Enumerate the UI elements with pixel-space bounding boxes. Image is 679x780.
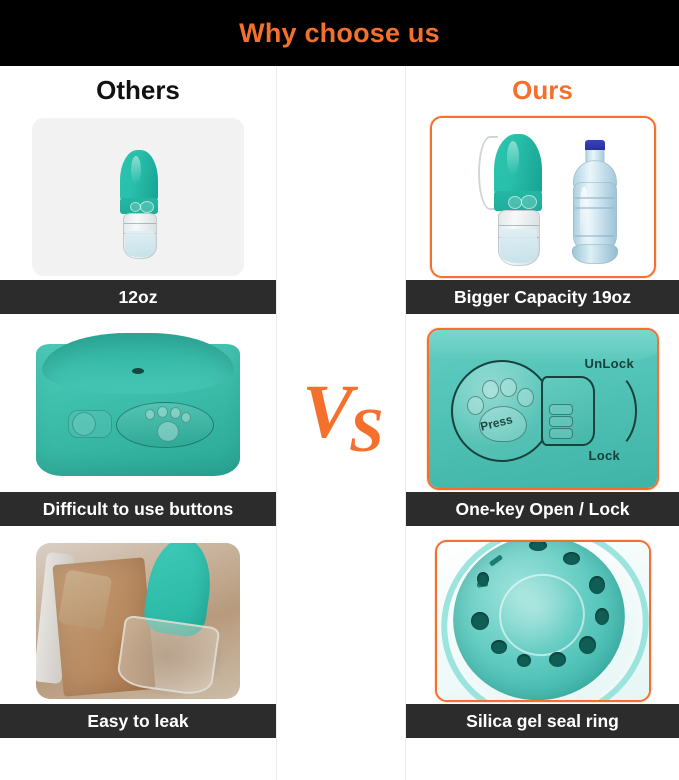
plastic-bottle-body <box>573 182 617 252</box>
cell-ours-capacity: Bigger Capacity 19oz <box>406 114 679 314</box>
lock-label: Lock <box>589 448 621 463</box>
column-divider-left <box>276 66 277 780</box>
bottle-neck <box>120 198 158 214</box>
seal-hole <box>471 612 489 630</box>
caption-ours-capacity: Bigger Capacity 19oz <box>406 280 679 314</box>
ours-bottle-body <box>498 210 540 266</box>
frame-photo <box>36 543 240 699</box>
caption-others-buttons: Difficult to use buttons <box>0 492 276 526</box>
column-heading-others: Others <box>0 66 276 114</box>
page-title: Why choose us <box>239 18 440 49</box>
lid-vent-hole-icon <box>132 368 144 374</box>
cell-others-leak: Easy to leak <box>0 538 276 738</box>
center-gutter <box>276 66 406 780</box>
paper-fold <box>58 569 113 630</box>
seal-hole <box>529 540 547 551</box>
spacer <box>406 314 679 326</box>
cell-others-capacity: 12oz <box>0 114 276 314</box>
cell-others-buttons: Difficult to use buttons <box>0 326 276 526</box>
lid-bowl-rim <box>42 333 234 394</box>
paw-icon <box>117 403 213 447</box>
column-heading-ours: Ours <box>406 66 679 114</box>
art-leak-photo <box>36 543 240 699</box>
seal-hole <box>579 636 596 654</box>
spacer <box>406 526 679 538</box>
seal-hole <box>563 552 580 565</box>
comparison-column-others: 12oz <box>0 114 276 780</box>
frame-orange-outline: Press UnLock Lock <box>427 328 659 490</box>
image-ours-seal-ring <box>406 538 679 704</box>
caption-others-capacity: 12oz <box>0 280 276 314</box>
ours-bottle-cap <box>494 134 542 196</box>
ours-bottle-neck <box>494 191 542 211</box>
lid-paw-button[interactable] <box>116 402 214 448</box>
ours-bottle-button-icon <box>508 196 522 209</box>
seal-hole <box>549 652 566 667</box>
spacer <box>0 526 276 538</box>
cell-ours-seal: Silica gel seal ring <box>406 538 679 738</box>
header-bar: Why choose us <box>0 0 679 66</box>
lid-body <box>36 344 240 476</box>
ours-bottle-button-secondary-icon <box>521 195 537 209</box>
art-ours-bottles <box>432 118 654 276</box>
press-dial[interactable]: Press <box>451 360 553 462</box>
seal-hole <box>595 608 609 625</box>
plastic-water-bottle <box>560 140 630 264</box>
plastic-bottle-base <box>572 244 618 264</box>
image-others-lid <box>0 326 276 492</box>
frame-orange-outline <box>435 540 651 702</box>
comparison-column-ours: Bigger Capacity 19oz <box>406 114 679 780</box>
lid-small-button[interactable] <box>72 412 96 436</box>
frame-plain-gray <box>32 118 244 276</box>
image-ours-bottle-19oz <box>406 114 679 280</box>
art-ours-lid-detail: Press UnLock Lock <box>429 330 657 488</box>
art-others-bottle <box>32 118 244 276</box>
lock-arc-indicator <box>579 370 637 452</box>
art-others-lid <box>22 330 254 488</box>
caption-ours-onekey: One-key Open / Lock <box>406 492 679 526</box>
cell-ours-onekey: Press UnLock Lock One-key Open / Lock <box>406 326 679 526</box>
bottle-button-secondary-icon <box>140 201 154 213</box>
frame-bare <box>22 330 254 488</box>
image-others-bottle-12oz <box>0 114 276 280</box>
frame-orange-outline <box>430 116 656 278</box>
seal-hole <box>477 572 489 586</box>
seal-hole <box>517 654 531 667</box>
seal-hole <box>589 576 605 594</box>
art-seal-ring <box>437 542 649 700</box>
image-others-leak <box>0 538 276 704</box>
bottle-cap <box>120 150 158 202</box>
caption-others-leak: Easy to leak <box>0 704 276 738</box>
caption-ours-seal: Silica gel seal ring <box>406 704 679 738</box>
seal-hole <box>491 640 507 654</box>
bottle-body <box>123 213 157 259</box>
image-ours-lid-detail: Press UnLock Lock <box>406 326 679 492</box>
paw-icon <box>465 374 539 444</box>
unlock-label: UnLock <box>585 356 634 371</box>
spacer <box>0 314 276 326</box>
